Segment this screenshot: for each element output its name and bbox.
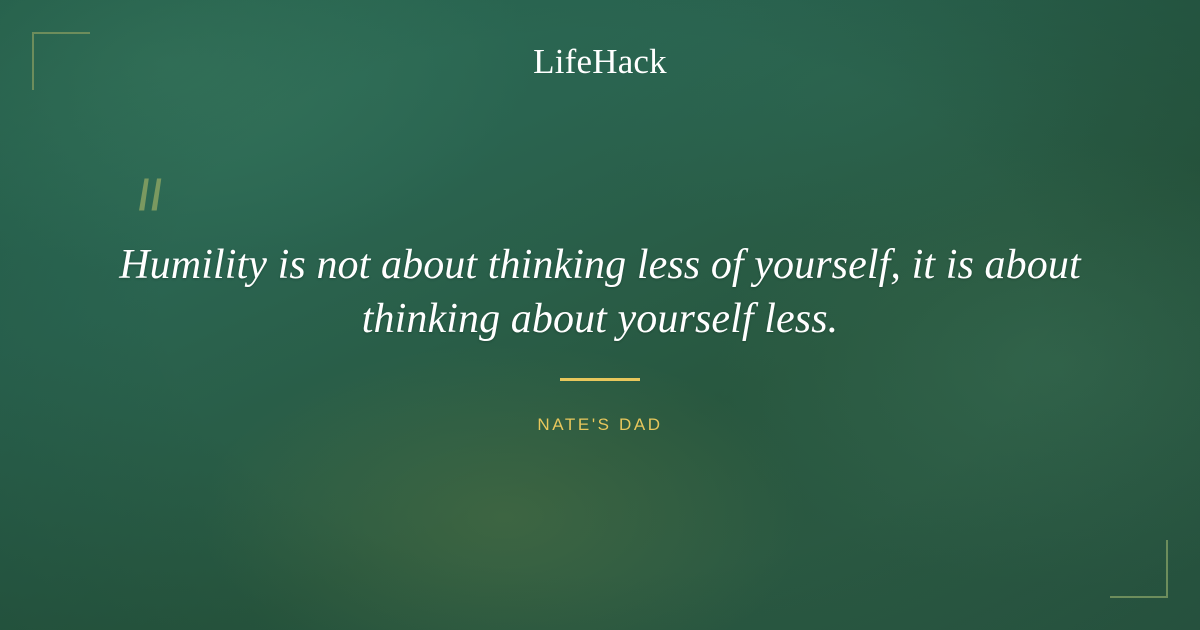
gold-divider [560, 378, 640, 381]
quote-line-1: Humility is not about thinking less of y… [100, 238, 1100, 292]
double-quote-icon [131, 172, 177, 218]
corner-bracket-bottom-right-icon [1110, 540, 1168, 598]
divider-container [0, 378, 1200, 381]
quote-block: Humility is not about thinking less of y… [100, 238, 1100, 346]
brand-logo: LifeHack [0, 40, 1200, 84]
quote-line-2: thinking about yourself less. [100, 292, 1100, 346]
quote-attribution: NATE'S DAD [0, 414, 1200, 436]
quote-card: LifeHack Humility is not about thinking … [0, 0, 1200, 630]
